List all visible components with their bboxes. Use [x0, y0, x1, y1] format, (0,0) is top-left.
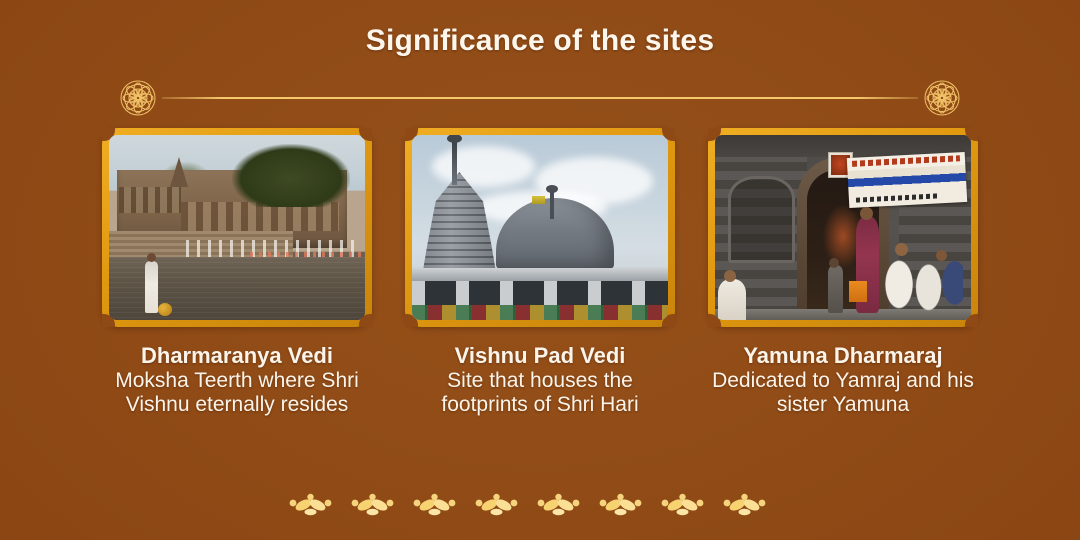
slide-canvas: Significance of the sites: [0, 0, 1080, 540]
card-caption: Vishnu Pad Vedi Site that houses the foo…: [403, 343, 678, 417]
site-card: Dharmaranya Vedi Moksha Teerth where Shr…: [95, 128, 380, 417]
site-card: Vishnu Pad Vedi Site that houses the foo…: [398, 128, 683, 417]
title-divider: [118, 78, 962, 118]
divider-rule: [162, 97, 918, 99]
card-description: Dedicated to Yamraj and his sister Yamun…: [706, 369, 981, 417]
card-description: Moksha Teerth where Shri Vishnu eternall…: [100, 369, 375, 417]
mandala-medallion-icon: [922, 78, 962, 118]
card-title: Dharmaranya Vedi: [100, 343, 375, 368]
temple-domes-photo: [412, 135, 668, 320]
card-caption: Dharmaranya Vedi Moksha Teerth where Shr…: [100, 343, 375, 417]
card-title: Yamuna Dharmaraj: [706, 343, 981, 368]
card-caption: Yamuna Dharmaraj Dedicated to Yamraj and…: [706, 343, 981, 417]
photo-frame: [708, 128, 978, 327]
photo-frame: [102, 128, 372, 327]
ghat-riverfront-photo: [109, 135, 365, 320]
lotus-petal-border-icon: [287, 490, 793, 524]
sites-card-row: Dharmaranya Vedi Moksha Teerth where Shr…: [0, 128, 1080, 488]
card-title: Vishnu Pad Vedi: [403, 343, 678, 368]
site-card: Yamuna Dharmaraj Dedicated to Yamraj and…: [701, 128, 986, 417]
photo-frame: [405, 128, 675, 327]
card-description: Site that houses the footprints of Shri …: [403, 369, 678, 417]
temple-doorway-photo: [715, 135, 971, 320]
mandala-medallion-icon: [118, 78, 158, 118]
page-title: Significance of the sites: [0, 24, 1080, 58]
